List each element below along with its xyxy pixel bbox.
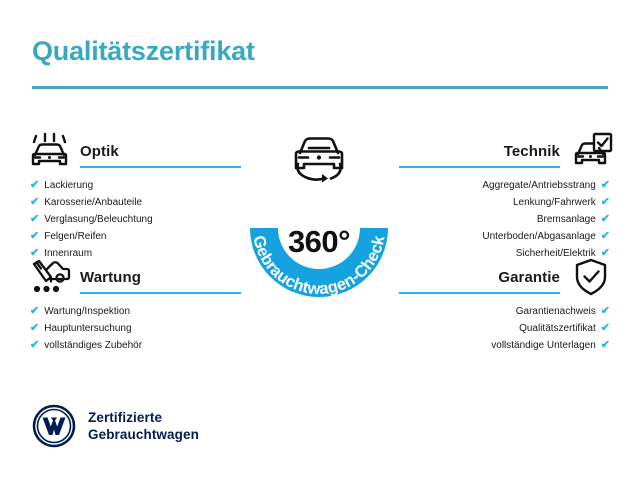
list-item-label: Bremsanlage — [537, 215, 596, 225]
footer-brand: Zertifizierte Gebrauchtwagen — [32, 404, 199, 448]
list-item-label: Aggregate/Antriebsstrang — [482, 181, 595, 191]
list-item-label: Lenkung/Fahrwerk — [513, 198, 596, 208]
check-icon: ✔ — [601, 231, 610, 242]
list-item-label: Innenraum — [44, 249, 92, 259]
list-item: ✔ Wartung/Inspektion — [30, 306, 241, 317]
section-technik: Technik ✔ Aggregate/Antriebsstrang ✔ Len… — [399, 132, 614, 265]
section-title-wrap: Garantie — [399, 258, 560, 294]
car-rotate-icon — [282, 130, 356, 192]
check-icon: ✔ — [30, 231, 39, 242]
section-underline — [399, 166, 560, 168]
list-item-label: Unterboden/Abgasanlage — [482, 232, 595, 242]
footer-brand-text: Zertifizierte Gebrauchtwagen — [88, 409, 199, 444]
section-title: Technik — [399, 144, 560, 161]
list-item-label: Lackierung — [44, 181, 93, 191]
check-icon: ✔ — [30, 214, 39, 225]
list-item: ✔ Unterboden/Abgasanlage — [399, 231, 610, 242]
list-item-label: Garantienachweis — [516, 307, 596, 317]
section-underline — [80, 166, 241, 168]
section-wartung: Wartung ✔ Wartung/Inspektion ✔ Hauptunte… — [26, 258, 241, 357]
list-item-label: Wartung/Inspektion — [44, 307, 130, 317]
list-item: ✔ Karosserie/Anbauteile — [30, 197, 241, 208]
check-icon: ✔ — [601, 197, 610, 208]
list-item: ✔ Felgen/Reifen — [30, 231, 241, 242]
section-list: ✔ Aggregate/Antriebsstrang ✔ Lenkung/Fah… — [399, 180, 614, 259]
section-header: Garantie — [399, 258, 614, 298]
section-list: ✔ Lackierung ✔ Karosserie/Anbauteile ✔ V… — [26, 180, 241, 259]
section-list: ✔ Garantienachweis ✔ Qualitätszertifikat… — [399, 306, 614, 351]
list-item: ✔ Bremsanlage — [399, 214, 610, 225]
list-item-label: Karosserie/Anbauteile — [44, 198, 142, 208]
badge-360-gebrauchtwagen-check: Gebrauchtwagen-Check — [229, 128, 409, 318]
check-icon: ✔ — [30, 340, 39, 351]
check-icon: ✔ — [601, 340, 610, 351]
list-item: ✔ Qualitätszertifikat — [399, 323, 610, 334]
list-item-label: Hauptuntersuchung — [44, 324, 131, 334]
section-title-wrap: Wartung — [80, 258, 241, 294]
shield-check-icon — [568, 258, 614, 298]
section-list: ✔ Wartung/Inspektion ✔ Hauptuntersuchung… — [26, 306, 241, 351]
section-title-wrap: Technik — [399, 132, 560, 168]
list-item: ✔ Lackierung — [30, 180, 241, 191]
car-checkbox-icon — [568, 132, 614, 172]
section-optik: Optik ✔ Lackierung ✔ Karosserie/Anbautei… — [26, 132, 241, 265]
check-icon: ✔ — [30, 180, 39, 191]
list-item: ✔ vollständiges Zubehör — [30, 340, 241, 351]
list-item: ✔ Lenkung/Fahrwerk — [399, 197, 610, 208]
list-item: ✔ Hauptuntersuchung — [30, 323, 241, 334]
section-title: Optik — [80, 144, 241, 161]
vw-logo-icon — [32, 404, 76, 448]
check-icon: ✔ — [30, 306, 39, 317]
section-title-wrap: Optik — [80, 132, 241, 168]
section-underline — [80, 292, 241, 294]
list-item-label: vollständige Unterlagen — [491, 341, 596, 351]
list-item: ✔ Garantienachweis — [399, 306, 610, 317]
footer-line-1: Zertifizierte — [88, 409, 199, 426]
check-icon: ✔ — [601, 180, 610, 191]
section-underline — [399, 292, 560, 294]
list-item: ✔ Aggregate/Antriebsstrang — [399, 180, 610, 191]
list-item-label: Verglasung/Beleuchtung — [44, 215, 152, 225]
list-item-label: Felgen/Reifen — [44, 232, 106, 242]
check-icon: ✔ — [601, 306, 610, 317]
check-icon: ✔ — [30, 323, 39, 334]
section-title: Garantie — [399, 270, 560, 287]
page-title: Qualitätszertifikat — [32, 36, 255, 67]
list-item: ✔ vollständige Unterlagen — [399, 340, 610, 351]
car-service-pen-icon — [26, 258, 72, 298]
footer-line-2: Gebrauchtwagen — [88, 426, 199, 443]
section-header: Technik — [399, 132, 614, 172]
car-shine-icon — [26, 132, 72, 172]
list-item-label: Qualitätszertifikat — [519, 324, 596, 334]
title-divider — [32, 86, 608, 89]
check-icon: ✔ — [601, 323, 610, 334]
check-icon: ✔ — [30, 197, 39, 208]
certificate-page: Qualitätszertifikat — [0, 0, 640, 480]
list-item: ✔ Verglasung/Beleuchtung — [30, 214, 241, 225]
list-item-label: vollständiges Zubehör — [44, 341, 142, 351]
badge-center-text: 360° — [229, 224, 409, 260]
section-title: Wartung — [80, 270, 241, 287]
section-header: Wartung — [26, 258, 241, 298]
section-garantie: Garantie ✔ Garantienachweis ✔ Qualitätsz… — [399, 258, 614, 357]
section-header: Optik — [26, 132, 241, 172]
check-icon: ✔ — [601, 214, 610, 225]
